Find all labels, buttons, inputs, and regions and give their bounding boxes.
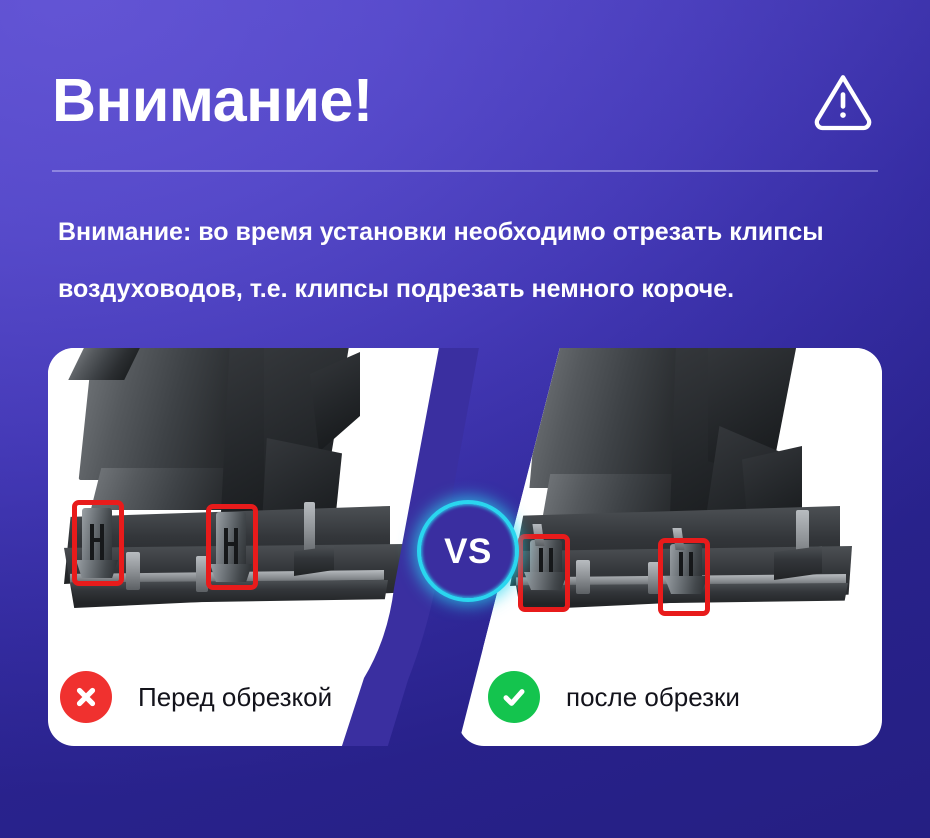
poster-header: Внимание! [52,52,878,148]
highlight-box [658,538,710,616]
after-photo [458,348,882,648]
vs-label: VS [444,534,492,569]
page-title: Внимание! [52,70,373,131]
highlight-box [72,500,124,586]
highlight-box [518,534,570,612]
warning-text-line-2: воздуховодов, т.е. клипсы подрезать немн… [58,261,888,318]
after-caption-label: после обрезки [566,682,740,713]
vs-badge: VS [417,500,519,602]
warning-text: Внимание: во время установки необходимо … [58,204,888,318]
warning-text-line-1: Внимание: во время установки необходимо … [58,204,888,261]
highlight-box [206,504,258,590]
after-panel: после обрезки [458,348,882,746]
cross-icon [60,671,112,723]
warning-triangle-icon [812,69,874,131]
before-panel: Перед обрезкой [48,348,472,746]
warning-poster: Внимание! Внимание: во время установки н… [0,0,930,838]
after-caption-row: после обрезки [476,648,882,746]
before-photo [48,348,472,648]
header-divider [52,170,878,172]
before-caption-label: Перед обрезкой [138,682,332,713]
check-icon [488,671,540,723]
before-caption-row: Перед обрезкой [48,648,460,746]
